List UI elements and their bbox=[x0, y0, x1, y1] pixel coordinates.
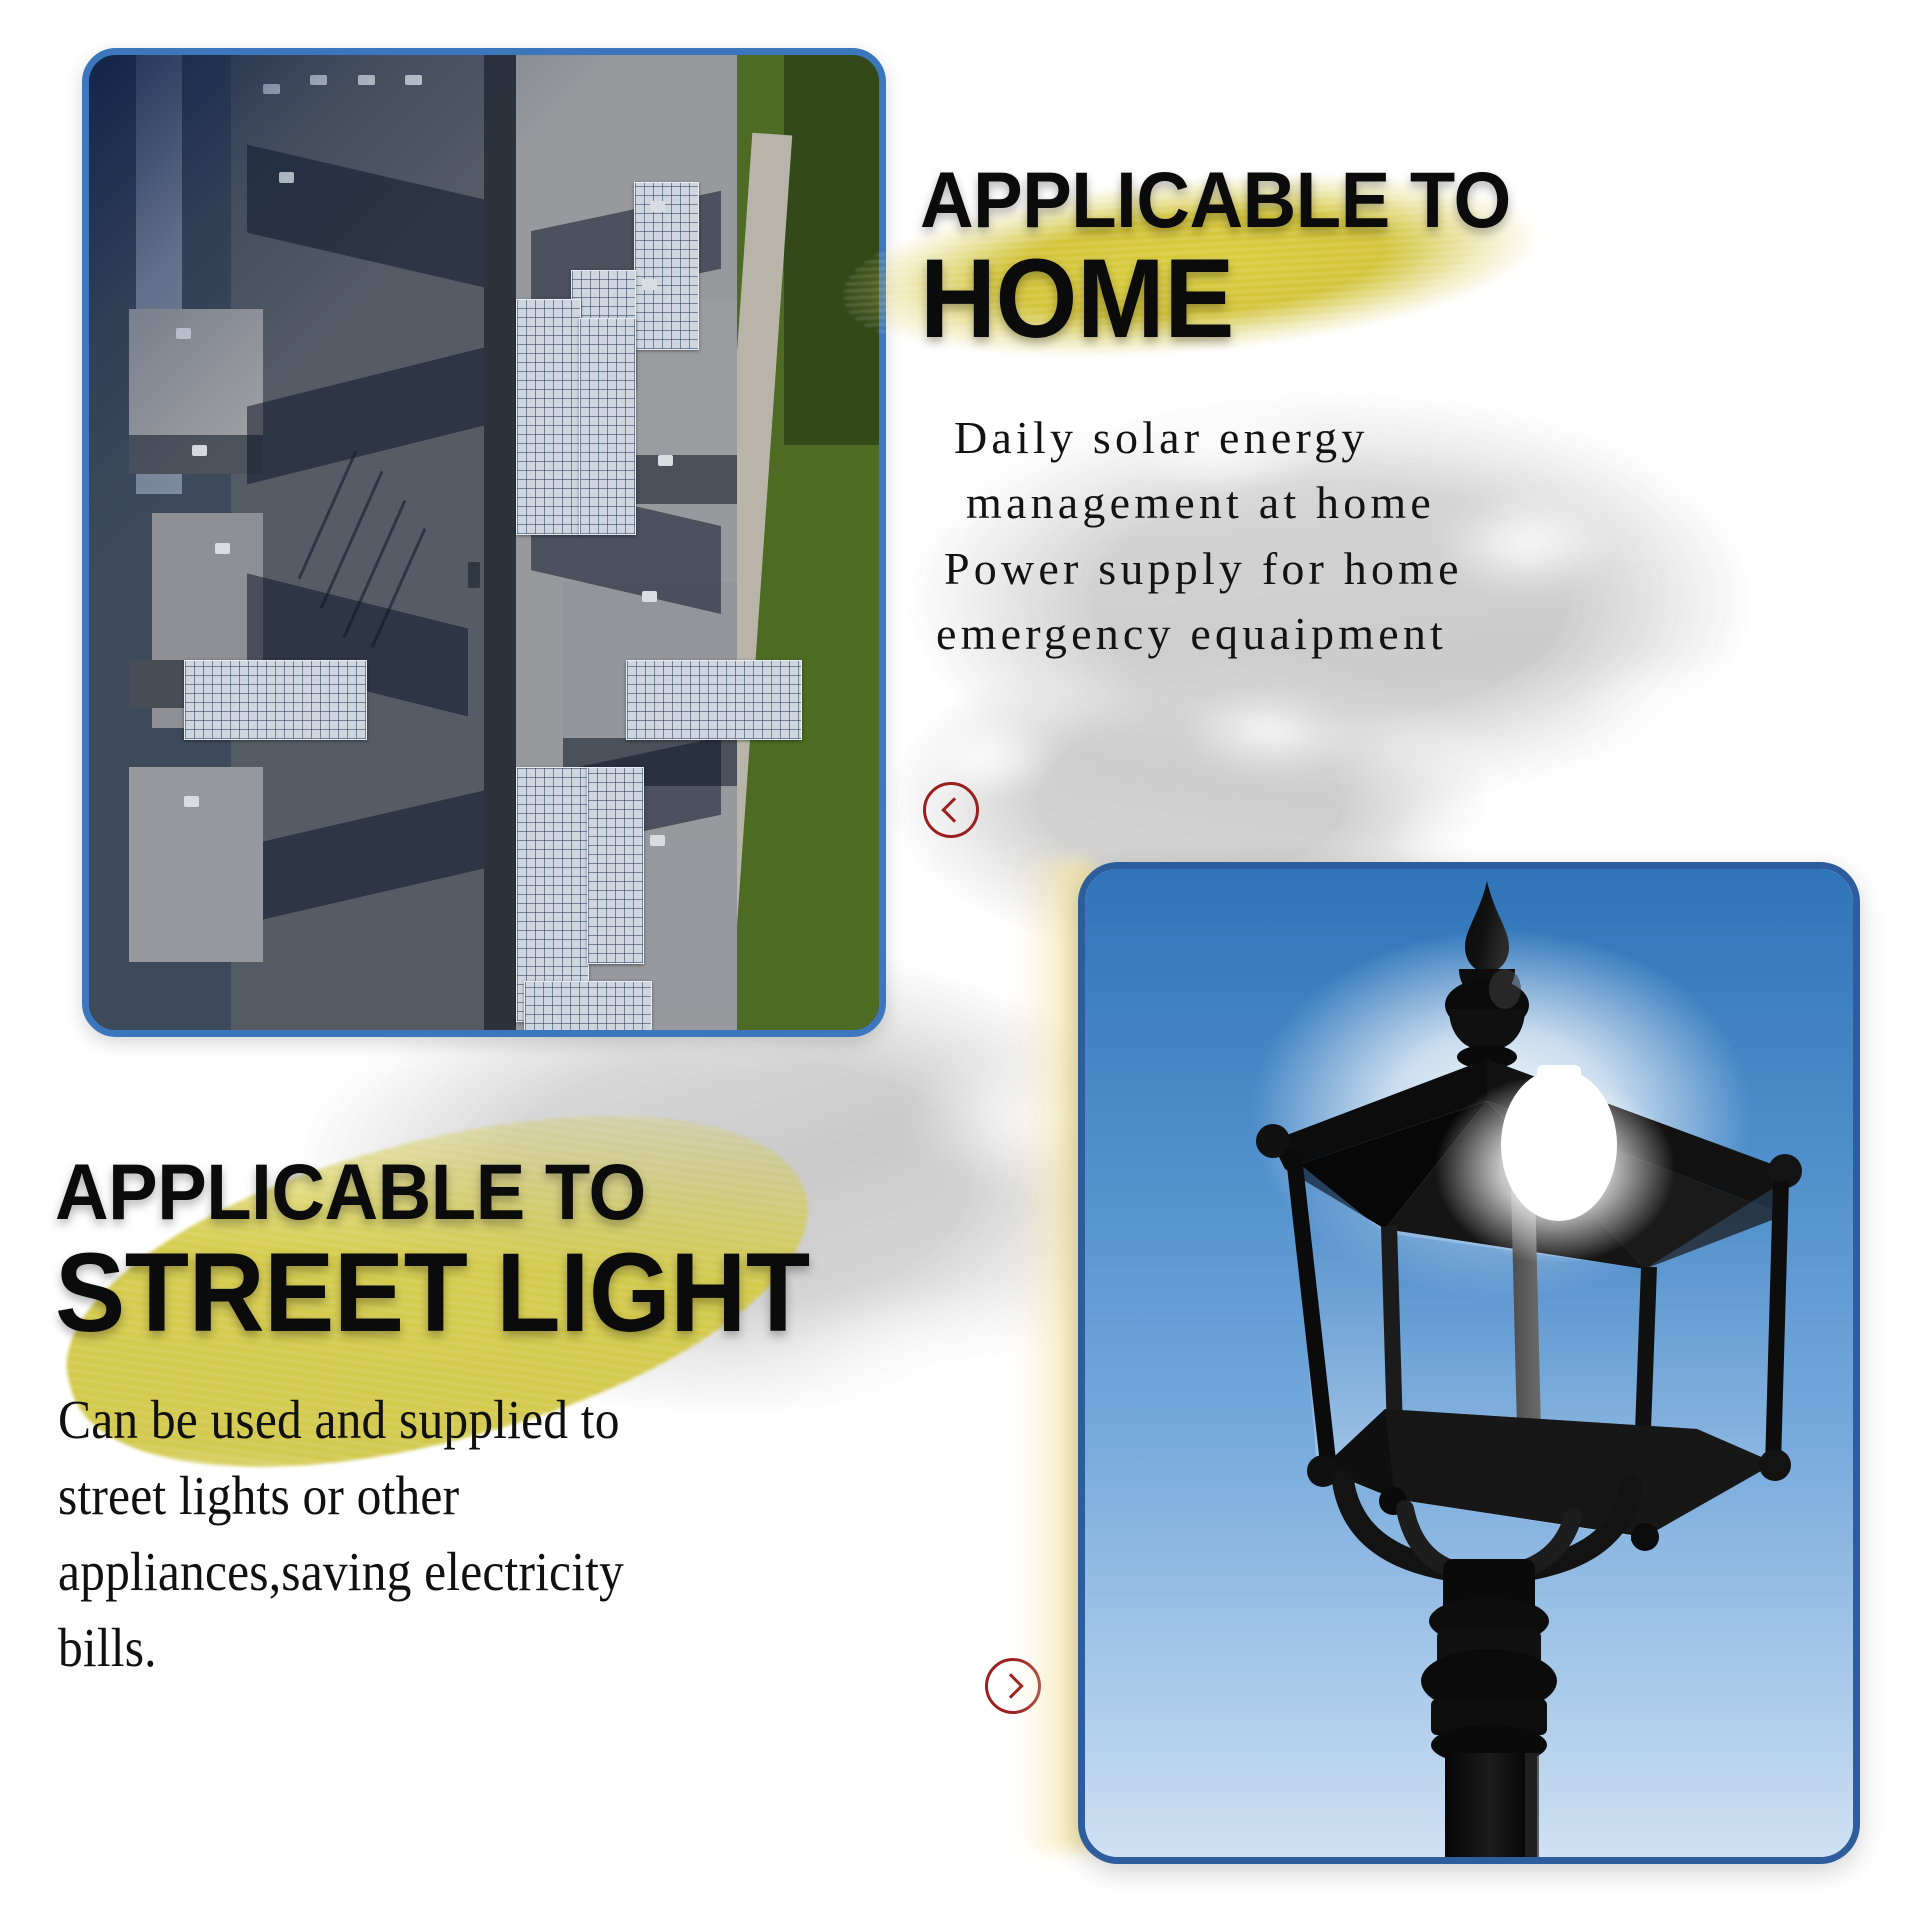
street-body-line-2: street lights or other bbox=[58, 1458, 850, 1534]
infographic-page: APPLICABLE TO HOME Daily solar energy ma… bbox=[0, 0, 1912, 1912]
street-lamp-illustration bbox=[1085, 869, 1853, 1857]
street-body-line-4: bills. bbox=[58, 1610, 850, 1686]
home-heading-block: APPLICABLE TO HOME bbox=[920, 160, 1548, 355]
next-slide-button[interactable] bbox=[985, 1658, 1041, 1714]
aerial-rooftop-photo bbox=[89, 55, 879, 1030]
street-heading-line2: STREET LIGHT bbox=[55, 1237, 810, 1349]
home-body-line-4: emergency equaipment bbox=[930, 601, 1790, 666]
home-heading-line2: HOME bbox=[920, 243, 1511, 355]
home-heading-line1: APPLICABLE TO bbox=[920, 160, 1511, 239]
home-body-text: Daily solar energy management at home Po… bbox=[930, 405, 1790, 666]
street-body-line-1: Can be used and supplied to bbox=[58, 1382, 850, 1458]
street-body-text: Can be used and supplied to street light… bbox=[58, 1382, 850, 1686]
street-heading-line1: APPLICABLE TO bbox=[55, 1152, 810, 1231]
chevron-right-icon bbox=[998, 1673, 1023, 1698]
street-body-line-3: appliances,saving electricity bbox=[58, 1534, 850, 1610]
home-body-line-2: management at home bbox=[930, 470, 1790, 535]
street-heading-block: APPLICABLE TO STREET LIGHT bbox=[55, 1152, 858, 1349]
chevron-left-icon bbox=[941, 797, 966, 822]
home-photo-card bbox=[82, 48, 886, 1037]
street-light-photo-card bbox=[1078, 862, 1860, 1864]
prev-slide-button[interactable] bbox=[923, 782, 979, 838]
home-body-line-1: Daily solar energy bbox=[930, 405, 1790, 470]
home-body-line-3: Power supply for home bbox=[930, 536, 1790, 601]
